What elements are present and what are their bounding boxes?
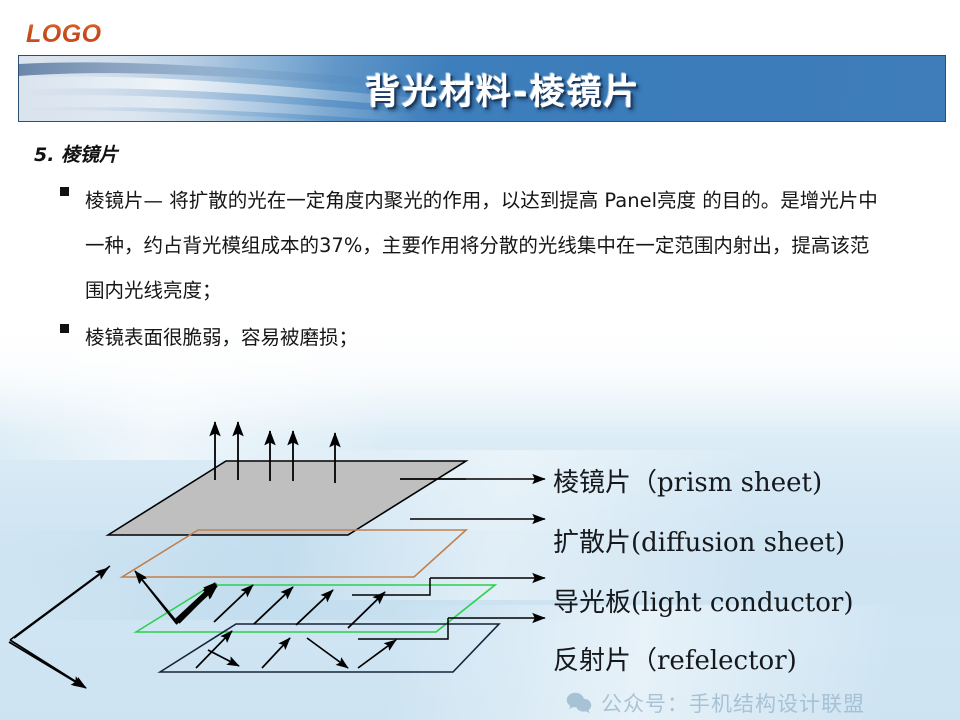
page-title: 背光材料-棱镜片	[19, 56, 946, 122]
bullet-text: 棱镜片— 将扩散的光在一定角度内聚光的作用，以达到提高 Panel亮度 的目的。…	[85, 178, 885, 313]
diagram-label-reflector: 反射片（refelector)	[553, 640, 797, 677]
arrow-group-reflector-rays	[196, 631, 396, 668]
layer-diffusion-sheet	[122, 530, 466, 577]
diagram-label-prism-sheet: 棱镜片（prism sheet)	[553, 462, 822, 499]
title-banner: 背光材料-棱镜片	[18, 55, 946, 122]
bullet-square-icon	[60, 187, 69, 196]
bullet-square-icon	[60, 324, 69, 333]
watermark-text: 公众号：手机结构设计联盟	[601, 688, 865, 718]
watermark: 公众号：手机结构设计联盟	[566, 688, 865, 718]
bullet-text: 棱镜表面很脆弱，容易被磨损；	[85, 315, 885, 360]
layer-prism-sheet	[108, 461, 466, 535]
bullet-item: 棱镜片— 将扩散的光在一定角度内聚光的作用，以达到提高 Panel亮度 的目的。…	[60, 178, 885, 313]
arrow-group-source-rays	[9, 568, 108, 688]
slide-canvas: LOGO 背光材料-棱镜片 5. 棱镜片	[0, 0, 960, 720]
diagram-label-diffusion-sheet: 扩散片(diffusion sheet)	[553, 522, 845, 559]
leader-lines	[400, 479, 545, 618]
section-heading: 5. 棱镜片	[34, 140, 118, 167]
source-line	[10, 566, 110, 640]
bullet-item: 棱镜表面很脆弱，容易被磨损；	[60, 315, 885, 360]
diagram-label-light-conductor: 导光板(light conductor)	[553, 582, 853, 619]
arrow-group-light-guide-out	[176, 585, 385, 628]
wechat-icon	[566, 692, 592, 714]
logo[interactable]: LOGO	[26, 20, 102, 49]
